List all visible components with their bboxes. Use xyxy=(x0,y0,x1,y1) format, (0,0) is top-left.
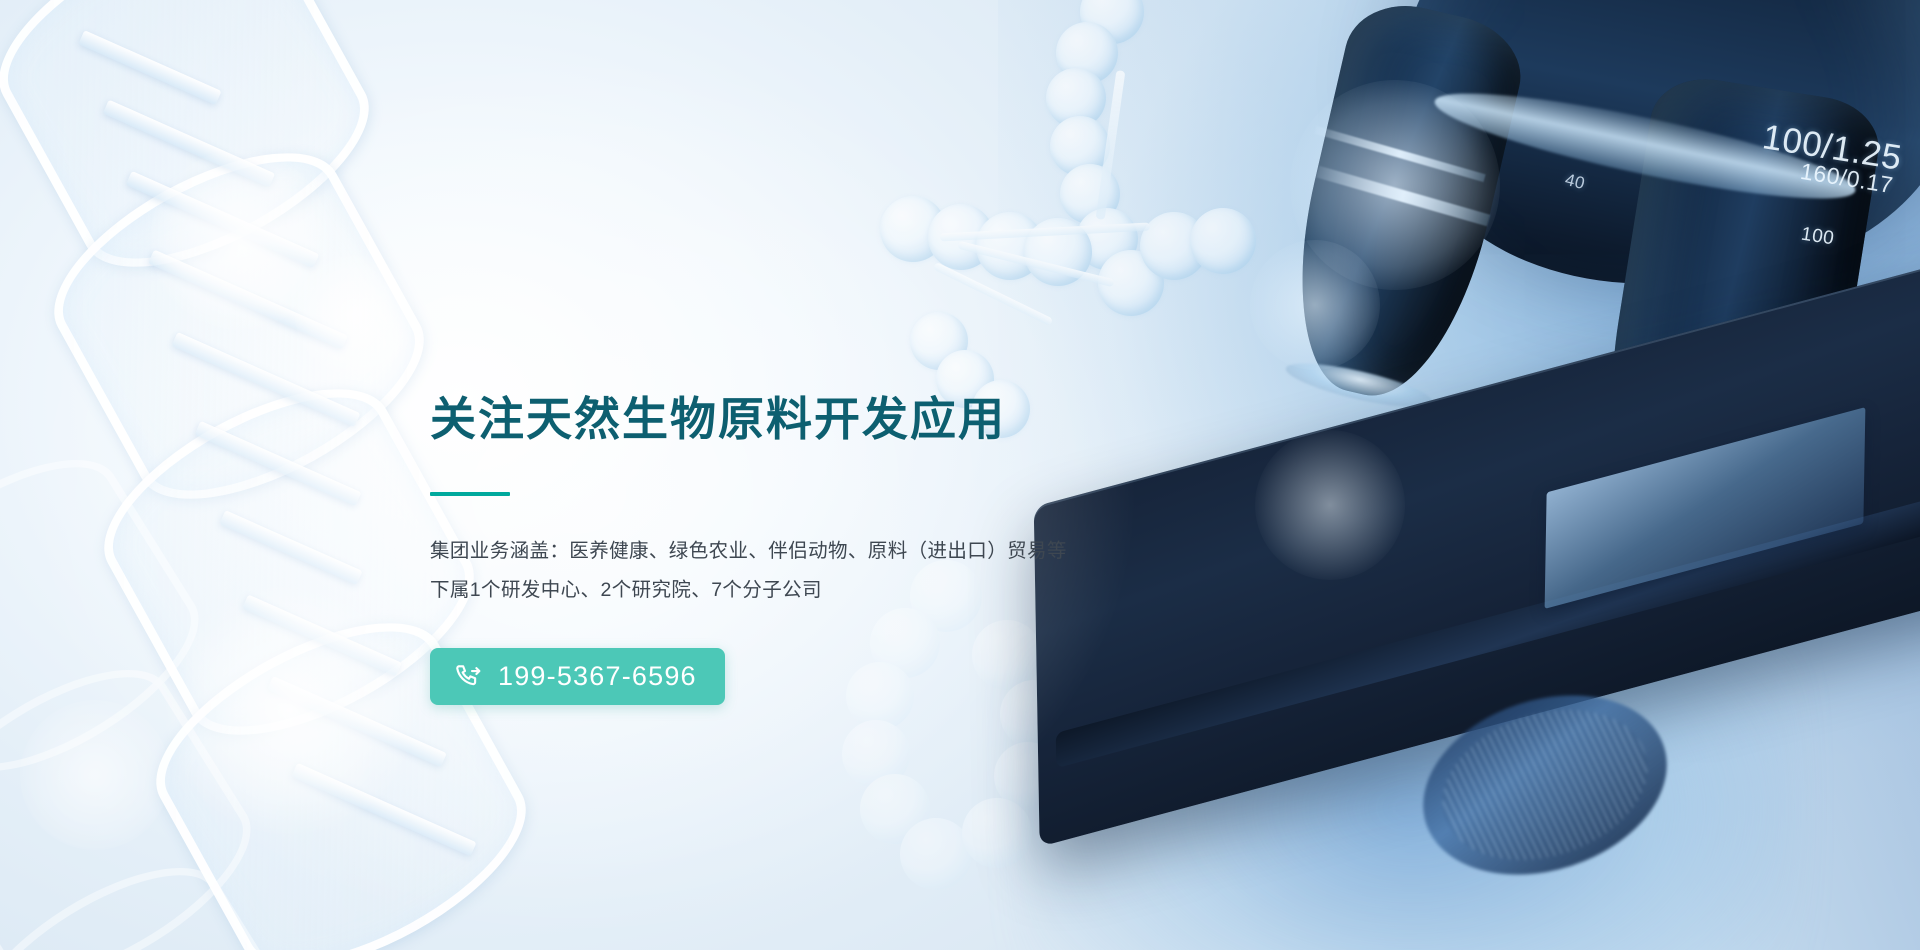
page-title: 关注天然生物原料开发应用 xyxy=(430,392,1230,446)
hero-description-line-2: 下属1个研发中心、2个研究院、7个分子公司 xyxy=(430,571,1170,610)
hero-content: 关注天然生物原料开发应用 集团业务涵盖：医养健康、绿色农业、伴侣动物、原料（进出… xyxy=(430,392,1230,705)
phone-outgoing-icon xyxy=(454,662,484,692)
title-divider xyxy=(430,492,510,496)
crystal-dna-helix-left-secondary xyxy=(0,480,410,950)
phone-cta-button[interactable]: 199-5367-6596 xyxy=(430,648,725,705)
phone-number-text: 199-5367-6596 xyxy=(498,661,697,692)
hero-description: 集团业务涵盖：医养健康、绿色农业、伴侣动物、原料（进出口）贸易等 下属1个研发中… xyxy=(430,532,1170,610)
hero-description-line-1: 集团业务涵盖：医养健康、绿色农业、伴侣动物、原料（进出口）贸易等 xyxy=(430,532,1170,571)
hero-banner: 100/1.25 160/0.17 100 40 关注天然生物原料开发应用 集团… xyxy=(0,0,1920,950)
